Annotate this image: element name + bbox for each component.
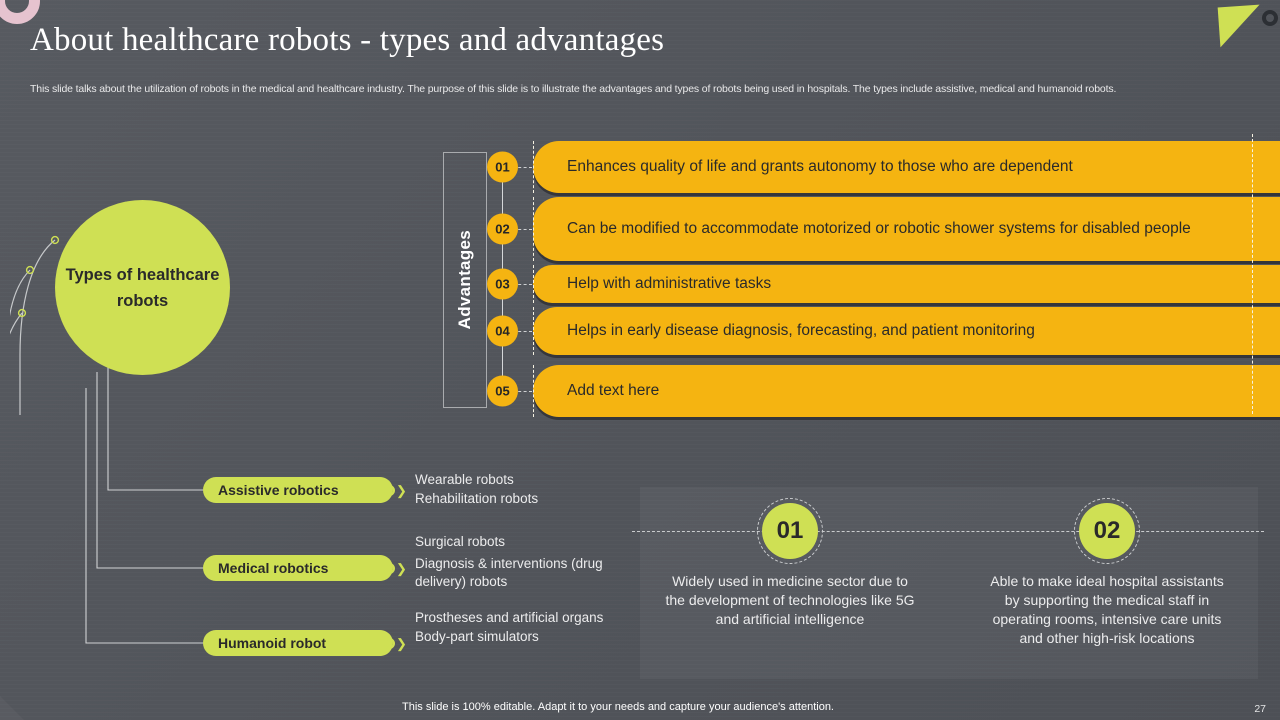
decorative-dot-icon xyxy=(1262,10,1278,26)
advantage-text: Enhances quality of life and grants auto… xyxy=(533,157,1099,177)
robot-subtype-item: Diagnosis & interventions (drug delivery… xyxy=(415,555,640,592)
pill-arrow-icon: ❯ xyxy=(396,562,407,575)
highlight-text: Able to make ideal hospital assistants b… xyxy=(982,572,1232,648)
advantage-text: Help with administrative tasks xyxy=(533,274,797,294)
pill-arrow-icon: ❯ xyxy=(396,637,407,650)
page-subtitle: This slide talks about the utilization o… xyxy=(30,82,1230,97)
robot-type-pill[interactable]: Medical robotics xyxy=(203,555,393,581)
hub-circle-label: Types of healthcare robots xyxy=(55,262,230,314)
advantage-inner-dashed-line xyxy=(533,365,534,417)
footer-note: This slide is 100% editable. Adapt it to… xyxy=(402,701,834,713)
advantage-number-badge: 03 xyxy=(487,269,518,300)
advantage-row[interactable]: 04Helps in early disease diagnosis, fore… xyxy=(487,307,1280,355)
decorative-corner-shape xyxy=(0,686,50,720)
robot-type-label: Humanoid robot xyxy=(203,635,326,651)
robot-type-label: Medical robotics xyxy=(203,560,328,576)
advantage-bar[interactable]: Add text here xyxy=(533,365,1280,417)
advantage-row[interactable]: 01Enhances quality of life and grants au… xyxy=(487,141,1280,193)
robot-type-label: Assistive robotics xyxy=(203,482,339,498)
advantage-inner-dashed-line xyxy=(533,197,534,261)
advantage-row[interactable]: 03Help with administrative tasks xyxy=(487,265,1280,303)
highlights-dashed-baseline xyxy=(632,531,1264,532)
advantage-number-badge: 02 xyxy=(487,214,518,245)
advantage-row[interactable]: 05Add text here xyxy=(487,365,1280,417)
advantage-bar[interactable]: Help with administrative tasks xyxy=(533,265,1280,303)
advantage-number-badge: 04 xyxy=(487,316,518,347)
pill-knob-icon xyxy=(384,563,395,574)
advantage-inner-dashed-line xyxy=(533,141,534,193)
decorative-ring-icon xyxy=(0,0,40,24)
highlight-badge-number: 01 xyxy=(762,503,818,559)
highlight-badge: 02 xyxy=(1074,498,1140,564)
robot-subtype-item: Body-part simulators xyxy=(415,628,645,647)
advantages-right-dashed-line xyxy=(1252,134,1253,414)
advantage-bar[interactable]: Helps in early disease diagnosis, foreca… xyxy=(533,307,1280,355)
page-title: About healthcare robots - types and adva… xyxy=(30,22,664,59)
advantage-bar[interactable]: Can be modified to accommodate motorized… xyxy=(533,197,1280,261)
robot-subtype-list: Wearable robotsRehabilitation robots xyxy=(415,471,645,508)
hub-circle: Types of healthcare robots xyxy=(55,200,230,375)
advantage-text: Can be modified to accommodate motorized… xyxy=(533,219,1217,239)
pill-knob-icon xyxy=(384,638,395,649)
advantage-text: Helps in early disease diagnosis, foreca… xyxy=(533,321,1061,341)
advantage-number-badge: 01 xyxy=(487,152,518,183)
robot-subtype-list: Surgical robotsDiagnosis & interventions… xyxy=(415,533,640,595)
advantage-row[interactable]: 02Can be modified to accommodate motoriz… xyxy=(487,197,1280,261)
decorative-triangle-icon xyxy=(1218,5,1263,48)
advantage-number-badge: 05 xyxy=(487,376,518,407)
advantage-text: Add text here xyxy=(533,381,685,401)
advantage-bar[interactable]: Enhances quality of life and grants auto… xyxy=(533,141,1280,193)
robot-subtype-item: Wearable robots xyxy=(415,471,645,490)
highlight-badge: 01 xyxy=(757,498,823,564)
pill-arrow-icon: ❯ xyxy=(396,484,407,497)
robot-subtype-list: Prostheses and artificial organsBody-par… xyxy=(415,609,645,646)
advantages-bracket xyxy=(443,152,487,408)
tree-connector-lines xyxy=(80,360,310,660)
advantage-inner-dashed-line xyxy=(533,265,534,303)
highlight-badge-number: 02 xyxy=(1079,503,1135,559)
robot-subtype-item: Prostheses and artificial organs xyxy=(415,609,645,628)
advantage-inner-dashed-line xyxy=(533,307,534,355)
robot-subtype-item: Rehabilitation robots xyxy=(415,490,645,509)
advantages-list: 01Enhances quality of life and grants au… xyxy=(487,141,1280,421)
robot-type-pill[interactable]: Assistive robotics xyxy=(203,477,393,503)
pill-knob-icon xyxy=(384,485,395,496)
page-number: 27 xyxy=(1254,703,1266,715)
robot-subtype-item: Surgical robots xyxy=(415,533,640,552)
highlight-text: Widely used in medicine sector due to th… xyxy=(665,572,915,629)
slide-canvas: About healthcare robots - types and adva… xyxy=(0,0,1280,720)
robot-type-pill[interactable]: Humanoid robot xyxy=(203,630,393,656)
